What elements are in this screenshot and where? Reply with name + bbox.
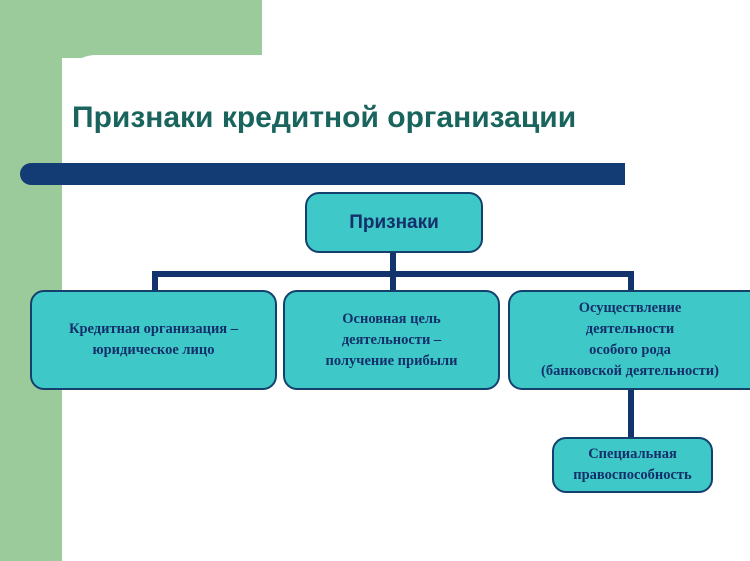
connector-drop-branch-3 bbox=[628, 271, 634, 292]
decorative-green-side-band bbox=[0, 0, 62, 561]
node-branch-2-label: Основная цель деятельности – получение п… bbox=[295, 309, 488, 372]
connector-drop-branch-1 bbox=[152, 271, 158, 292]
title-underline-bar bbox=[20, 163, 625, 185]
node-leaf-label: Специальная правоспособность bbox=[560, 444, 705, 486]
node-branch-special-activity[interactable]: Осуществление деятельности особого рода … bbox=[508, 290, 750, 390]
connector-branch3-to-leaf bbox=[628, 390, 634, 438]
node-leaf-special-capacity[interactable]: Специальная правоспособность bbox=[552, 437, 713, 493]
connector-drop-branch-2 bbox=[390, 271, 396, 292]
node-branch-3-label: Осуществление деятельности особого рода … bbox=[516, 298, 744, 382]
node-branch-legal-entity[interactable]: Кредитная организация – юридическое лицо bbox=[30, 290, 277, 390]
page-title: Признаки кредитной организации bbox=[72, 98, 692, 138]
node-root-label: Признаки bbox=[307, 212, 481, 234]
node-branch-profit-goal[interactable]: Основная цель деятельности – получение п… bbox=[283, 290, 500, 390]
node-root-priznaki[interactable]: Признаки bbox=[305, 192, 483, 253]
node-branch-1-label: Кредитная организация – юридическое лицо bbox=[42, 319, 265, 361]
slide-canvas: Признаки кредитной организации Признаки … bbox=[0, 0, 750, 561]
